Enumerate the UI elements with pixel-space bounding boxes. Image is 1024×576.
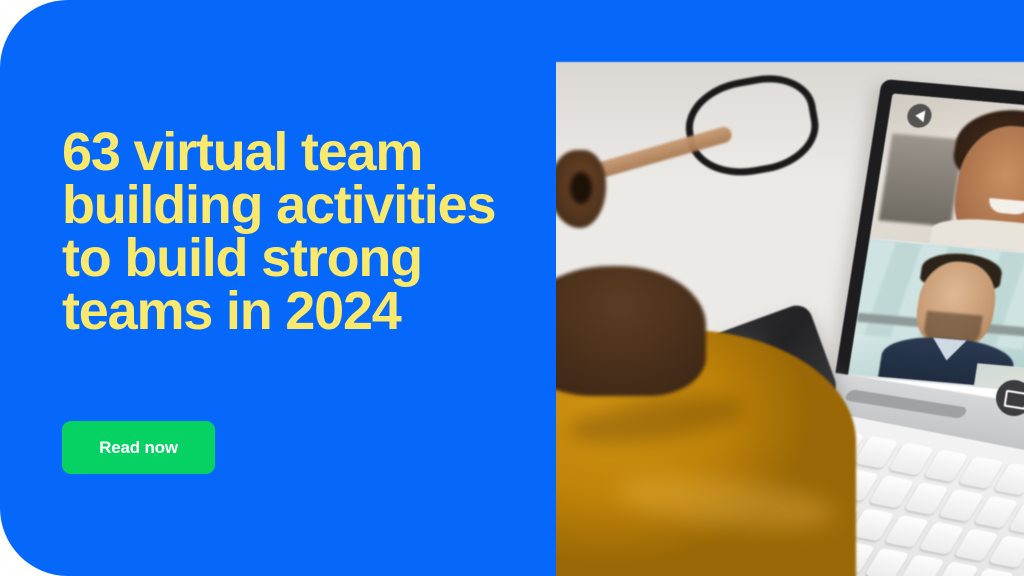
read-now-button[interactable]: Read now (62, 421, 215, 474)
hero-photo (556, 0, 1024, 576)
headline-line-4: teams in 2024 (62, 285, 562, 338)
page-title: 63 virtual team building activities to b… (62, 126, 562, 338)
headline-line-1: 63 virtual team (62, 126, 562, 179)
person-ear-canal (570, 172, 592, 204)
mic-icon (906, 103, 934, 129)
video-tile-participant-1 (870, 93, 1024, 254)
headline-line-3: to build strong (62, 232, 562, 285)
promo-banner: 63 virtual team building activities to b… (0, 0, 1024, 576)
headline-line-2: building activities (62, 179, 562, 232)
hero-photo-scene (556, 0, 1024, 576)
tile-background-shelf (879, 133, 965, 226)
